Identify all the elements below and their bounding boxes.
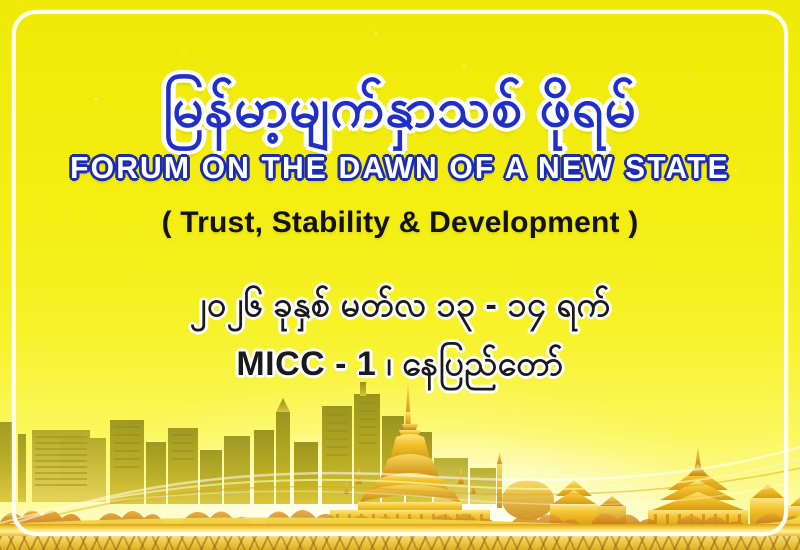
subtitle-themes: ( Trust, Stability & Development ) (0, 206, 800, 240)
event-banner: မြန်မာ့မျက်နှာသစ် ဖိုရမ် FORUM ON THE DA… (0, 0, 800, 550)
title-english: FORUM ON THE DAWN OF A NEW STATE (12, 150, 788, 186)
title-myanmar: မြန်မာ့မျက်နှာသစ် ဖိုရမ် (0, 78, 800, 136)
gold-ornamental-strip (0, 524, 800, 550)
banner-text-block: မြန်မာ့မျက်နှာသစ် ဖိုရမ် FORUM ON THE DA… (0, 0, 800, 392)
event-date: ၂၀၂၆ ခုနှစ် မတ်လ ၁၃ - ၁၄ ရက် (0, 282, 800, 333)
event-venue: MICC - 1 ၊ နေပြည်တော် (0, 341, 800, 392)
ornament-pattern (0, 536, 800, 550)
